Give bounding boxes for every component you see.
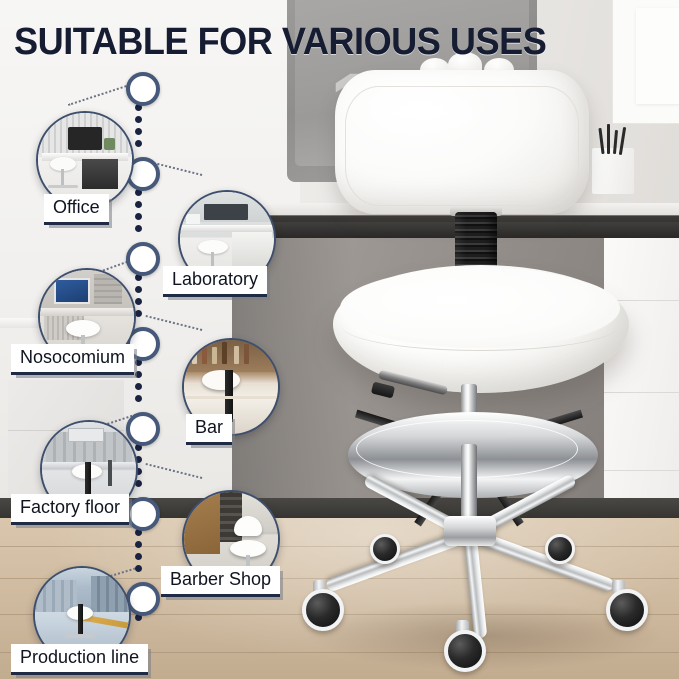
bar-bottle-5	[234, 346, 239, 364]
barber-wood-panel	[184, 492, 220, 554]
gas-spring-cover	[455, 212, 497, 272]
lab-glassware	[186, 214, 200, 224]
office-photo	[38, 113, 132, 207]
label-laboratory: Laboratory	[163, 266, 267, 297]
office-stool-base	[48, 185, 78, 188]
bar-bottle-1	[192, 346, 197, 364]
bar-bottle-6	[244, 344, 249, 364]
bar-bottle-2	[202, 343, 207, 364]
backrest-highlight	[352, 84, 492, 140]
office-monitor	[68, 127, 102, 150]
factory-pole	[108, 460, 112, 486]
caster-right-back	[545, 534, 575, 564]
caster-right-front	[606, 589, 648, 631]
bar-bottle-3	[212, 347, 217, 364]
lab-bench-front	[232, 232, 272, 266]
barber-chair-back	[234, 516, 262, 536]
label-production-line: Production line	[11, 644, 148, 675]
bar-footrail	[184, 396, 278, 399]
label-office: Office	[44, 194, 109, 225]
lab-equipment	[204, 204, 248, 220]
factory-panel	[68, 428, 104, 442]
hospital-counter	[40, 308, 134, 316]
lab-bench-top	[180, 225, 274, 232]
bar-back-shelf	[184, 340, 278, 372]
production-machine-right	[91, 576, 129, 614]
label-factory-floor: Factory floor	[11, 494, 129, 525]
label-barber-shop: Barber Shop	[161, 566, 280, 597]
node-production-line[interactable]	[126, 582, 160, 616]
node-office[interactable]	[126, 72, 160, 106]
office-plant	[104, 138, 115, 150]
infographic-canvas: 18	[0, 0, 679, 679]
label-nosocomium: Nosocomium	[11, 344, 134, 375]
office-drawer-unit	[82, 159, 118, 189]
caster-left-front	[302, 589, 344, 631]
seat-edge-seam	[341, 300, 619, 351]
bar-stool-seat	[202, 370, 240, 390]
caster-center-front	[444, 630, 486, 672]
caster-left-back	[370, 534, 400, 564]
hospital-monitor	[54, 278, 90, 304]
production-stool-base	[65, 634, 95, 638]
hospital-shelf	[94, 274, 122, 304]
base-center-hub	[444, 516, 496, 546]
lever-handle-grip[interactable]	[371, 382, 395, 399]
page-title: SUITABLE FOR VARIOUS USES	[14, 21, 546, 64]
bar-bottle-4	[222, 342, 227, 364]
label-bar: Bar	[186, 414, 232, 445]
chrome-post-lower	[461, 444, 477, 522]
production-stool-post	[78, 604, 83, 636]
